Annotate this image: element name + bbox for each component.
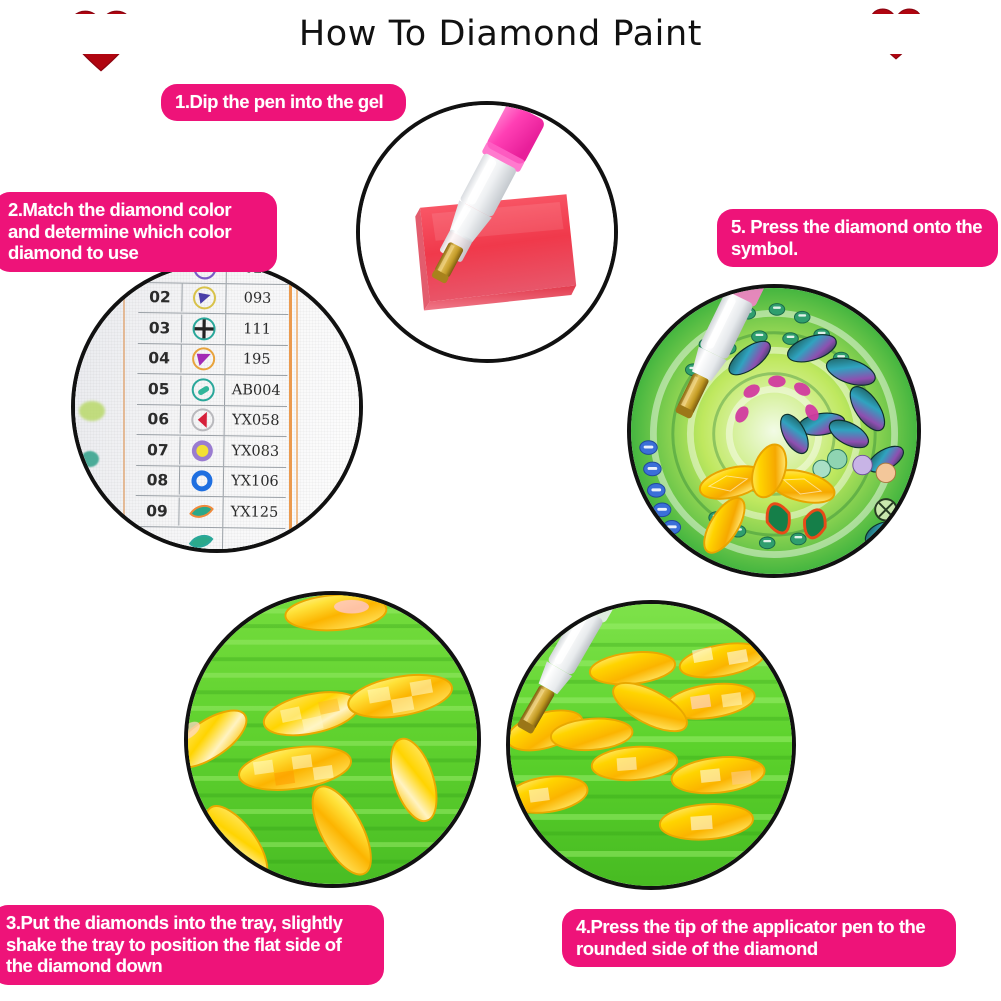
header-banner: How To Diamond Paint [0,0,1001,72]
chart-smudge [79,401,105,421]
row-number: 06 [137,405,181,434]
open-ring-icon [180,466,224,496]
row-code: 111 [226,315,288,344]
table-row: 07 YX083 [136,435,286,468]
row-code: YX125 [223,498,285,527]
plus-cross-icon [182,314,226,344]
step-1-photo [356,101,618,363]
leaf-marquise-icon [179,497,223,527]
row-code: 093 [226,284,288,313]
chart-right-stripe [289,265,292,549]
row-number: 05 [137,375,181,404]
step-2-label: 2.Match the diamond color and determine … [0,192,277,272]
table-row: 08 YX106 [136,465,286,498]
triangle-down-icon [181,344,225,374]
page-title-text: How To Diamond Paint [285,14,716,54]
row-number: 09 [135,497,179,526]
chart-left-stripe [123,265,125,549]
page-title: How To Diamond Paint [0,14,1001,54]
how-to-diamond-paint-infographic: How To Diamond Paint [0,0,1001,1001]
step-1-label: 1.Dip the pen into the gel [161,84,406,121]
step-5-photo [627,284,921,578]
step-3-photo [184,591,481,888]
table-row: 09 YX125 [135,496,285,529]
step-5-label: 5. Press the diamond onto the symbol. [717,209,998,267]
color-chart-table: 028 02 093 03 111 04 [135,261,289,553]
row-number: 03 [138,314,182,343]
step-4-photo [506,600,796,890]
dot-in-ring-icon [180,436,224,466]
table-row: 06 YX058 [137,404,287,437]
table-row [135,526,285,553]
table-row: 05 AB004 [137,374,287,407]
row-number: 02 [138,283,182,312]
step-4-label: 4.Press the tip of the applicator pen to… [562,909,956,967]
row-code: 195 [225,345,287,374]
step-2-photo: 028 02 093 03 111 04 [71,261,363,553]
row-code [223,542,285,543]
chart-smudge [81,451,99,467]
row-code: YX058 [225,406,287,435]
capsule-slash-icon [181,375,225,405]
table-row: 02 093 [138,282,288,315]
row-number: 04 [137,344,181,373]
step-3-label: 3.Put the diamonds into the tray, slight… [0,905,384,985]
row-number: 07 [136,436,180,465]
row-number: 08 [136,466,180,495]
table-row: 04 195 [137,343,287,376]
triangle-flag-icon [182,283,226,313]
leaf-marquise-icon [179,527,223,553]
row-code: YX083 [224,437,286,466]
table-row: 03 111 [138,313,288,346]
chart-right-stripe-2 [296,265,298,549]
chevron-left-icon [181,405,225,435]
row-code: YX106 [224,467,286,496]
row-number [135,541,179,542]
color-chart-photo: 028 02 093 03 111 04 [75,265,359,549]
row-code: AB004 [225,376,287,405]
